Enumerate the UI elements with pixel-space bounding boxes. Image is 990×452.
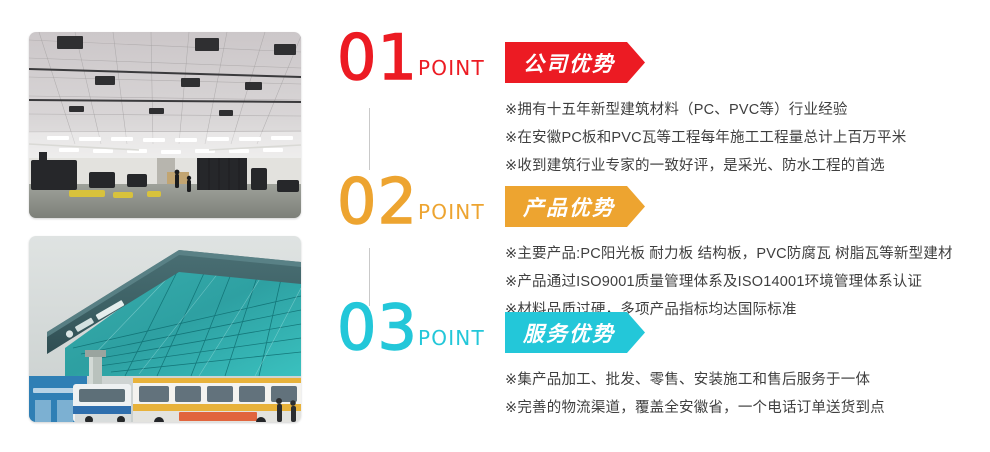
list-item: ※产品通过ISO9001质量管理体系及ISO14001环境管理体系认证 [505, 268, 985, 296]
point-word-1: POINT [418, 56, 485, 80]
factory-interior-illustration [29, 32, 301, 218]
list-item: ※收到建筑行业专家的一致好评，是采光、防水工程的首选 [505, 152, 985, 180]
point-lines-3: ※集产品加工、批发、零售、安装施工和售后服务于一体 ※完善的物流渠道，覆盖全安徽… [505, 366, 985, 422]
list-item: ※完善的物流渠道，覆盖全安徽省，一个电话订单送货到点 [505, 394, 985, 422]
photo-column [29, 32, 301, 422]
list-item: ※在安徽PC板和PVC瓦等工程每年施工工程量总计上百万平米 [505, 124, 985, 152]
badge-company-advantage[interactable]: 公司优势 [505, 42, 645, 83]
point-header-2: 02 POINT 产品优势 [333, 180, 990, 238]
state-grid-canopy-illustration [29, 236, 301, 422]
badge-product-advantage[interactable]: 产品优势 [505, 186, 645, 227]
point-word-2: POINT [418, 200, 485, 224]
point-header-1: 01 POINT 公司优势 [333, 36, 990, 94]
list-item: ※拥有十五年新型建筑材料（PC、PVC等）行业经验 [505, 96, 985, 124]
state-grid-canopy-photo [29, 236, 301, 422]
point-number-2: 02 [337, 171, 418, 233]
point-number-1: 01 [337, 27, 418, 89]
factory-interior-photo [29, 32, 301, 218]
list-item: ※主要产品:PC阳光板 耐力板 结构板，PVC防腐瓦 树脂瓦等新型建材 [505, 240, 985, 268]
point-block-2: 02 POINT 产品优势 ※主要产品:PC阳光板 耐力板 结构板，PVC防腐瓦… [333, 180, 990, 238]
badge-service-advantage[interactable]: 服务优势 [505, 312, 645, 353]
point-lines-1: ※拥有十五年新型建筑材料（PC、PVC等）行业经验 ※在安徽PC板和PVC瓦等工… [505, 96, 985, 180]
advantages-section: 01 POINT 公司优势 ※拥有十五年新型建筑材料（PC、PVC等）行业经验 … [0, 0, 990, 452]
points-column: 01 POINT 公司优势 ※拥有十五年新型建筑材料（PC、PVC等）行业经验 … [333, 0, 990, 452]
point-header-3: 03 POINT 服务优势 [333, 306, 990, 364]
list-item: ※集产品加工、批发、零售、安装施工和售后服务于一体 [505, 366, 985, 394]
point-block-3: 03 POINT 服务优势 ※集产品加工、批发、零售、安装施工和售后服务于一体 … [333, 306, 990, 364]
point-block-1: 01 POINT 公司优势 ※拥有十五年新型建筑材料（PC、PVC等）行业经验 … [333, 36, 990, 94]
connector-line-1 [369, 108, 370, 170]
point-word-3: POINT [418, 326, 485, 350]
point-number-3: 03 [337, 297, 418, 359]
